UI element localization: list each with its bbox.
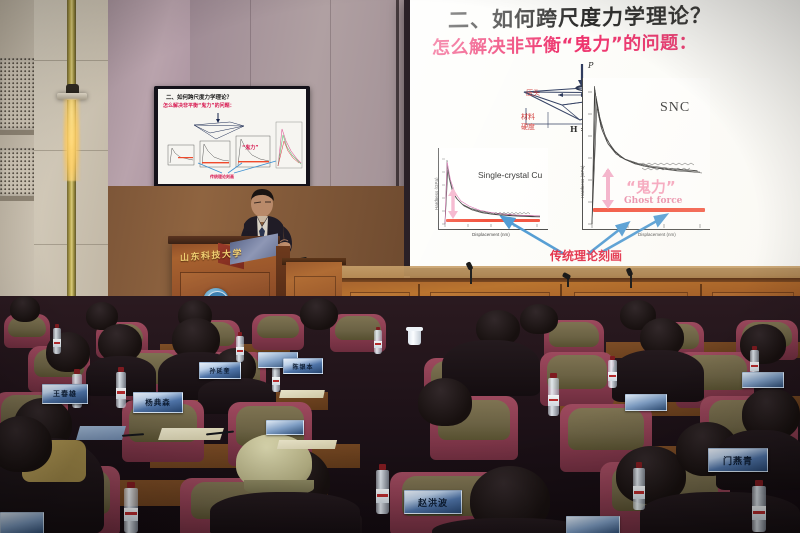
audience-person-shoulders — [432, 518, 588, 533]
acoustic-panel-upper — [0, 58, 36, 130]
plot-left-ylabel: Hardness (GPa) — [434, 177, 439, 210]
confidence-monitor-screen: 二、如何跨尺度力学理论？ 怎么解决非平衡“鬼力”的问题： 传统 — [158, 89, 306, 184]
document-folder[interactable] — [76, 426, 126, 440]
notepad[interactable] — [279, 390, 325, 398]
water-bottle[interactable] — [608, 360, 617, 388]
water-bottle[interactable] — [116, 372, 126, 408]
stage-microphone-2 — [562, 272, 572, 286]
audience-nameplate — [0, 512, 44, 533]
audience-nameplate — [566, 516, 620, 533]
audience-nameplate-text: 门燕青 — [723, 454, 753, 467]
audience-nameplate — [625, 394, 667, 411]
stage-microphone-1 — [466, 262, 474, 282]
water-bottle[interactable] — [633, 468, 645, 510]
schematic-hardness-label: 硬度 — [521, 122, 535, 132]
water-bottle[interactable] — [124, 488, 138, 533]
audience-person-shoulders — [210, 492, 360, 533]
wall-sconce-light — [62, 99, 81, 181]
water-bottle[interactable] — [548, 378, 559, 416]
water-bottle[interactable] — [236, 336, 244, 362]
audience-chair — [252, 314, 304, 350]
ghost-force-label: “鬼力” — [626, 176, 676, 197]
water-bottle[interactable] — [374, 330, 382, 354]
audience-area — [0, 296, 800, 533]
audience-nameplate: 孙延奎 — [199, 362, 241, 379]
audience-person-head — [520, 304, 558, 334]
audience-person-head — [300, 298, 338, 330]
audience-nameplate-text: 杨典森 — [145, 397, 171, 408]
stage-microphone-3 — [626, 268, 634, 286]
audience-nameplate: 陈银本 — [283, 358, 323, 374]
water-bottle[interactable] — [272, 366, 280, 392]
acoustic-panel-ledge-2 — [0, 196, 36, 201]
audience-nameplate-text: 赵洪波 — [418, 496, 448, 509]
schematic-load-label: P — [588, 61, 593, 70]
water-bottle[interactable] — [53, 328, 61, 354]
audience-nameplate: 杨典森 — [133, 392, 183, 413]
audience-person-shoulders — [640, 492, 800, 533]
audience-nameplate-text: 孙延奎 — [209, 366, 230, 375]
audience-nameplate-text: 陈银本 — [292, 362, 313, 371]
audience-nameplate — [266, 420, 304, 435]
monitor-slide-thumbnail — [158, 89, 306, 184]
water-bottle[interactable] — [376, 470, 389, 514]
plot-left-title: Single-crystal Cu — [478, 170, 542, 180]
schematic-indenter-label: 压头 — [526, 88, 540, 98]
audience-person-head — [418, 378, 472, 426]
acoustic-panel-lower — [0, 148, 36, 196]
plot-right-ylabel: Hardness (GPa) — [580, 165, 585, 198]
notepad[interactable] — [277, 440, 337, 449]
plot-right-title: SNC — [660, 100, 690, 116]
audience-person-head — [10, 296, 40, 322]
audience-nameplate: 门燕青 — [708, 448, 768, 472]
lecture-hall-photo: 二、如何跨尺度力学理论？ 怎么解决非平衡“鬼力”的问题： — [0, 0, 800, 533]
monitor-ghost-label: “鬼力” — [242, 144, 259, 151]
tea-cup-lid — [406, 327, 423, 331]
audience-nameplate: 赵洪波 — [404, 490, 462, 514]
audience-person-head — [740, 324, 786, 364]
water-bottle[interactable] — [752, 486, 766, 532]
slide-caption: 传统理论刻画 — [550, 247, 622, 264]
audience-nameplate: 王春雄 — [42, 384, 88, 404]
schematic-material-label: 材料 — [521, 112, 535, 122]
tea-cup[interactable] — [408, 330, 421, 345]
acoustic-panel-ledge-1 — [0, 130, 36, 135]
audience-nameplate-text: 王春雄 — [53, 389, 77, 399]
slide-subheading: 怎么解决非平衡“鬼力”的问题： — [432, 28, 697, 60]
audience-nameplate — [742, 372, 784, 388]
projection-screen: 二、如何跨尺度力学理论？ 怎么解决非平衡“鬼力”的问题： — [410, 0, 800, 268]
monitor-caption: 传统理论刻画 — [210, 174, 234, 180]
